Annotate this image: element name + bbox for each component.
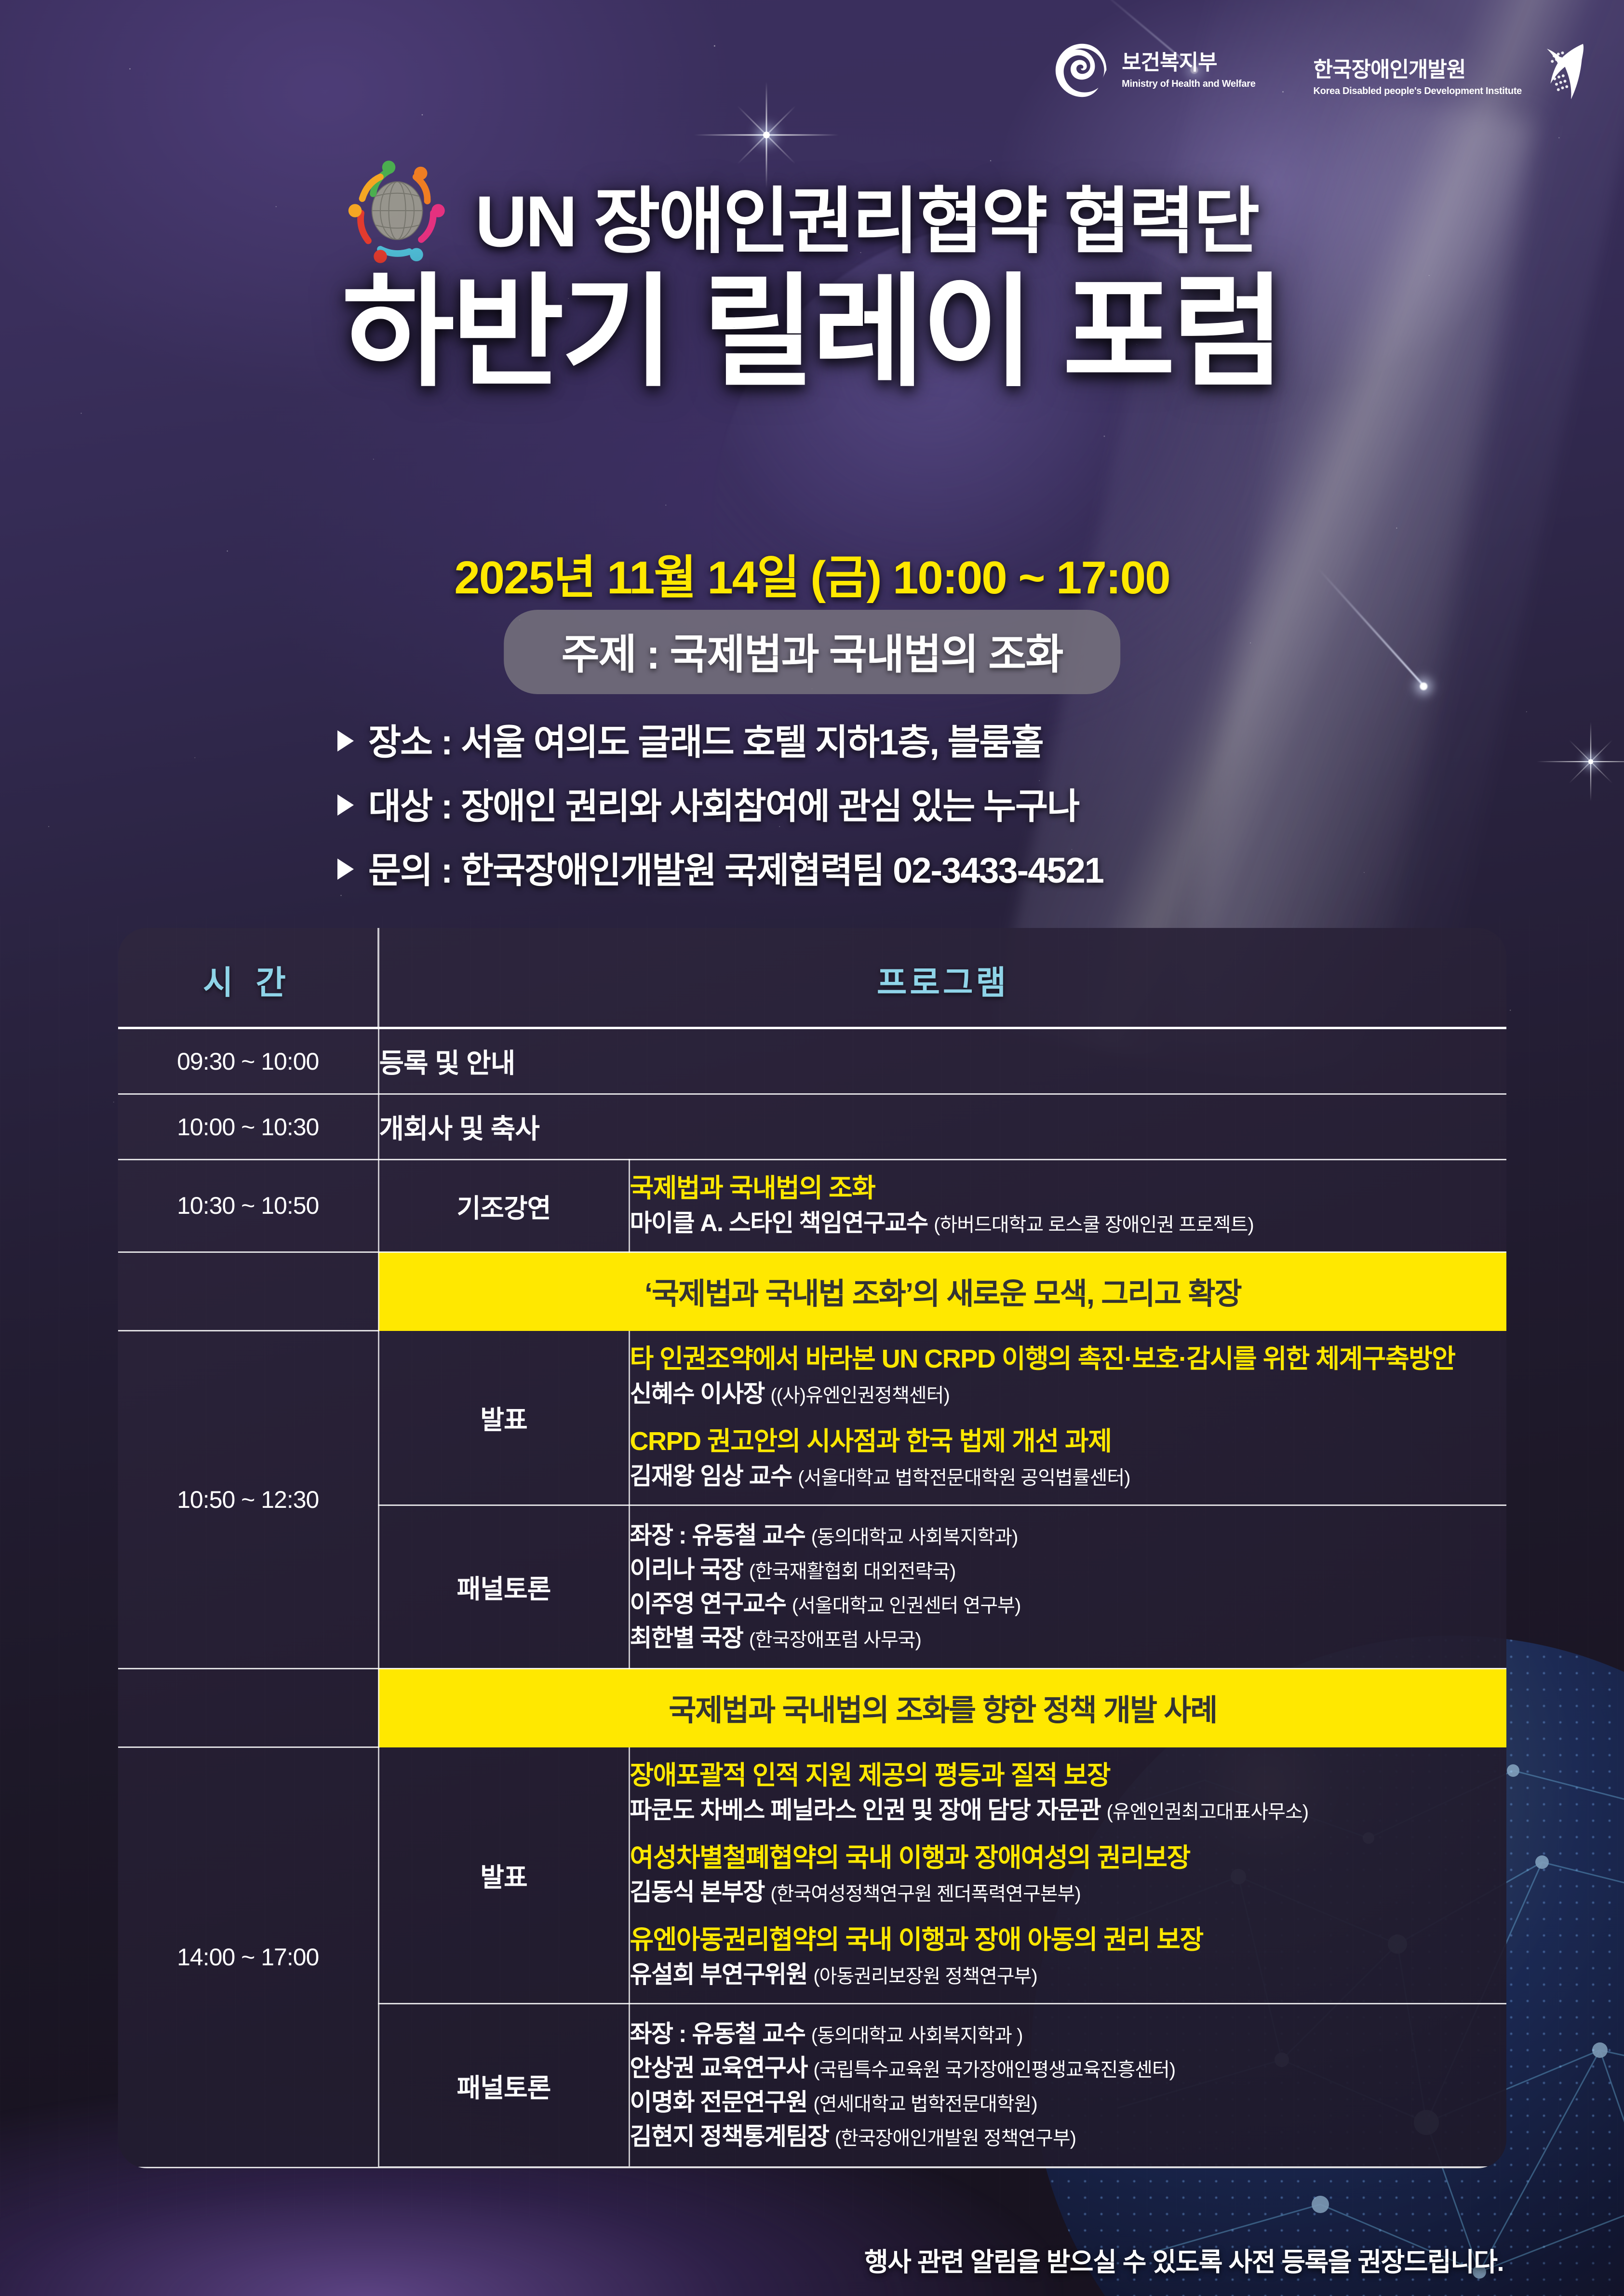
kodaf-bird-icon (1532, 41, 1595, 114)
person-name: 신혜수 이사장 (630, 1380, 765, 1407)
person-affiliation: (한국장애포럼 사무국) (749, 1629, 921, 1651)
sparkle-star-icon-2 (1547, 718, 1624, 805)
korea-gov-taegeuk-icon (1053, 41, 1111, 99)
schedule-table: 시 간 프로그램 09:30 ~ 10:00 등록 및 안내 10:00 ~ 1… (118, 928, 1506, 2168)
person-affiliation: (아동권리보장원 정책연구부) (813, 1966, 1037, 1987)
event-info-list: 장소 : 서울 여의도 글래드 호텔 지하1층, 블룸홀 대상 : 장애인 권리… (337, 713, 1103, 906)
program-item-title: 타 인권조약에서 바라본 UN CRPD 이행의 촉진·보호·감시를 위한 체계… (630, 1343, 1507, 1375)
person-name: 유설희 부연구위원 (630, 1961, 807, 1988)
program-item: 국제법과 국내법의 조화 마이클 A. 스타인 책임연구교수 (하버드대학교 로… (630, 1173, 1507, 1239)
person-name: 이리나 국장 (630, 1556, 743, 1583)
person-name: 김동식 본부장 (630, 1879, 765, 1906)
table-row: 10:00 ~ 10:30 개회사 및 축사 (118, 1094, 1506, 1160)
schedule-panel: 시 간 프로그램 09:30 ~ 10:00 등록 및 안내 10:00 ~ 1… (118, 928, 1506, 2168)
cell-session-kind: 패널토론 (378, 1505, 629, 1668)
panelist-line: 이주영 연구교수 (서울대학교 인권센터 연구부) (630, 1587, 1507, 1621)
person-name: 김재왕 임상 교수 (630, 1463, 792, 1490)
person-affiliation: (국립특수교육원 국가장애인평생교육진흥센터) (813, 2059, 1175, 2081)
registration-note: 행사 관련 알림을 받으실 수 있도록 사전 등록을 권장드립니다. (864, 2241, 1503, 2279)
section-header-row: 국제법과 국내법의 조화를 향한 정책 개발 사례 (118, 1668, 1506, 1747)
cell-blank (118, 1668, 378, 1747)
triangle-right-icon (337, 794, 354, 816)
logo-label-en: Korea Disabled people's Development Inst… (1314, 86, 1522, 97)
column-header-time: 시 간 (118, 928, 378, 1028)
section-header-label: ‘국제법과 국내법 조화’의 새로운 모색, 그리고 확장 (378, 1252, 1506, 1331)
column-header-program: 프로그램 (378, 928, 1506, 1028)
info-item-text: 대상 : 장애인 권리와 사회참여에 관심 있는 누구나 (368, 778, 1079, 829)
program-item-title: 장애포괄적 인적 지원 제공의 평등과 질적 보장 (630, 1760, 1507, 1792)
person-affiliation: (서울대학교 법학전문대학원 공익법률센터) (798, 1467, 1130, 1489)
panelist-line: 좌장 : 유동철 교수 (동의대학교 사회복지학과) (630, 1518, 1507, 1553)
cell-session-kind: 패널토론 (378, 2004, 629, 2168)
cell-session-kind: 발표 (378, 1331, 629, 1505)
program-item-person: 김동식 본부장 (한국여성정책연구원 젠더폭력연구본부) (630, 1877, 1507, 1908)
person-name: 마이클 A. 스타인 책임연구교수 (630, 1209, 928, 1236)
table-row: 09:30 ~ 10:00 등록 및 안내 (118, 1028, 1506, 1094)
person-affiliation: (동의대학교 사회복지학과 ) (811, 2025, 1023, 2046)
logo-korea-disabled-peoples-development-institute: 한국장애인개발원 Korea Disabled people's Develop… (1314, 41, 1595, 114)
program-item-title: 국제법과 국내법의 조화 (630, 1173, 1507, 1205)
panelist-line: 안상권 교육연구사 (국립특수교육원 국가장애인평생교육진흥센터) (630, 2051, 1507, 2085)
cell-session-kind: 발표 (378, 1747, 629, 2004)
cell-time: 10:50 ~ 12:30 (118, 1331, 378, 1668)
cell-blank (118, 1252, 378, 1331)
table-row: 10:50 ~ 12:30 발표 타 인권조약에서 바라본 UN CRPD 이행… (118, 1331, 1506, 1505)
program-item-title: CRPD 권고안의 시사점과 한국 법제 개선 과제 (630, 1426, 1507, 1458)
program-item-person: 마이클 A. 스타인 책임연구교수 (하버드대학교 로스쿨 장애인권 프로젝트) (630, 1208, 1507, 1239)
triangle-right-icon (337, 859, 354, 880)
info-item-text: 문의 : 한국장애인개발원 국제협력팀 02-3433-4521 (368, 842, 1103, 893)
info-item-venue: 장소 : 서울 여의도 글래드 호텔 지하1층, 블룸홀 (337, 713, 1103, 765)
triangle-right-icon (337, 730, 354, 752)
program-item: 장애포괄적 인적 지원 제공의 평등과 질적 보장 파쿤도 차베스 페닐라스 인… (630, 1760, 1507, 1826)
section-header-label: 국제법과 국내법의 조화를 향한 정책 개발 사례 (378, 1668, 1506, 1747)
hero-title-line-2: 하반기 릴레이 포럼 (0, 268, 1624, 397)
person-affiliation: (한국재활협회 대외전략국) (749, 1561, 956, 1582)
person-name: 이명화 전문연구원 (630, 2089, 807, 2116)
cell-program: 개회사 및 축사 (378, 1094, 1506, 1160)
event-poster: 보건복지부 Ministry of Health and Welfare 한국장… (0, 0, 1624, 2296)
person-affiliation: (한국여성정책연구원 젠더폭력연구본부) (770, 1883, 1080, 1905)
logo-label-ko: 보건복지부 (1122, 51, 1255, 74)
person-affiliation: (동의대학교 사회복지학과) (811, 1527, 1018, 1548)
program-item: 타 인권조약에서 바라본 UN CRPD 이행의 촉진·보호·감시를 위한 체계… (630, 1343, 1507, 1410)
person-name: 최한별 국장 (630, 1625, 743, 1652)
globe-people-circle-icon (337, 150, 457, 271)
program-item: CRPD 권고안의 시사점과 한국 법제 개선 과제 김재왕 임상 교수 (서울… (630, 1426, 1507, 1492)
person-name: 파쿤도 차베스 페닐라스 인권 및 장애 담당 자문관 (630, 1797, 1101, 1824)
info-item-contact: 문의 : 한국장애인개발원 국제협력팀 02-3433-4521 (337, 842, 1103, 893)
sponsor-logos: 보건복지부 Ministry of Health and Welfare 한국장… (1053, 41, 1595, 114)
cell-program: 장애포괄적 인적 지원 제공의 평등과 질적 보장 파쿤도 차베스 페닐라스 인… (629, 1747, 1506, 2004)
program-item-title: 여성차별철폐협약의 국내 이행과 장애여성의 권리보장 (630, 1842, 1507, 1874)
person-name: 좌장 : 유동철 교수 (630, 1522, 805, 1549)
program-item: 유엔아동권리협약의 국내 이행과 장애 아동의 권리 보장 유설희 부연구위원 … (630, 1924, 1507, 1990)
person-affiliation: (서울대학교 인권센터 연구부) (792, 1595, 1020, 1616)
cell-time: 10:00 ~ 10:30 (118, 1094, 378, 1160)
program-item: 여성차별철폐협약의 국내 이행과 장애여성의 권리보장 김동식 본부장 (한국여… (630, 1842, 1507, 1908)
person-name: 좌장 : 유동철 교수 (630, 2020, 805, 2047)
section-header-row: ‘국제법과 국내법 조화’의 새로운 모색, 그리고 확장 (118, 1252, 1506, 1331)
logo-label-ko: 한국장애인개발원 (1314, 58, 1522, 81)
program-item-person: 신혜수 이사장 ((사)유엔인권정책센터) (630, 1378, 1507, 1410)
person-name: 안상권 교육연구사 (630, 2054, 807, 2081)
person-affiliation: (하버드대학교 로스쿨 장애인권 프로젝트) (934, 1214, 1254, 1235)
table-row: 14:00 ~ 17:00 발표 장애포괄적 인적 지원 제공의 평등과 질적 … (118, 1747, 1506, 2004)
cell-time: 14:00 ~ 17:00 (118, 1747, 378, 2168)
cell-time: 09:30 ~ 10:00 (118, 1028, 378, 1094)
info-item-audience: 대상 : 장애인 권리와 사회참여에 관심 있는 누구나 (337, 778, 1103, 829)
hero-title-block: UN 장애인권리협약 협력단 하반기 릴레이 포럼 (0, 159, 1624, 397)
program-item-title: 유엔아동권리협약의 국내 이행과 장애 아동의 권리 보장 (630, 1924, 1507, 1956)
panelist-line: 좌장 : 유동철 교수 (동의대학교 사회복지학과 ) (630, 2017, 1507, 2051)
cell-time: 10:30 ~ 10:50 (118, 1160, 378, 1252)
cell-program: 국제법과 국내법의 조화 마이클 A. 스타인 책임연구교수 (하버드대학교 로… (629, 1160, 1506, 1252)
panelist-line: 이리나 국장 (한국재활협회 대외전략국) (630, 1553, 1507, 1587)
cell-session-kind: 기조강연 (378, 1160, 629, 1252)
program-item-person: 유설희 부연구위원 (아동권리보장원 정책연구부) (630, 1959, 1507, 1990)
person-name: 김현지 정책통계팀장 (630, 2123, 829, 2150)
logo-ministry-of-health-and-welfare: 보건복지부 Ministry of Health and Welfare (1053, 41, 1255, 99)
event-theme-badge: 주제 : 국제법과 국내법의 조화 (504, 610, 1121, 694)
person-name: 이주영 연구교수 (630, 1590, 786, 1617)
table-row: 10:30 ~ 10:50 기조강연 국제법과 국내법의 조화 마이클 A. 스… (118, 1160, 1506, 1252)
panelist-line: 이명화 전문연구원 (연세대학교 법학전문대학원) (630, 2085, 1507, 2120)
panelist-line: 최한별 국장 (한국장애포럼 사무국) (630, 1621, 1507, 1655)
table-header-row: 시 간 프로그램 (118, 928, 1506, 1028)
info-item-text: 장소 : 서울 여의도 글래드 호텔 지하1층, 블룸홀 (368, 713, 1043, 765)
cell-program: 좌장 : 유동철 교수 (동의대학교 사회복지학과 ) 안상권 교육연구사 (국… (629, 2004, 1506, 2168)
logo-label-en: Ministry of Health and Welfare (1122, 79, 1255, 90)
cell-program: 타 인권조약에서 바라본 UN CRPD 이행의 촉진·보호·감시를 위한 체계… (629, 1331, 1506, 1505)
hero-title-line-1: UN 장애인권리협약 협력단 (475, 163, 1258, 268)
program-item-person: 파쿤도 차베스 페닐라스 인권 및 장애 담당 자문관 (유엔인권최고대표사무소… (630, 1795, 1507, 1826)
person-affiliation: (연세대학교 법학전문대학원) (813, 2094, 1037, 2115)
person-affiliation: (한국장애인개발원 정책연구부) (835, 2128, 1076, 2149)
person-affiliation: ((사)유엔인권정책센터) (770, 1385, 949, 1406)
event-date-time: 2025년 11월 14일 (금) 10:00 ~ 17:00 (0, 540, 1624, 607)
cell-program: 좌장 : 유동철 교수 (동의대학교 사회복지학과) 이리나 국장 (한국재활협… (629, 1505, 1506, 1668)
panelist-line: 김현지 정책통계팀장 (한국장애인개발원 정책연구부) (630, 2120, 1507, 2154)
program-item-person: 김재왕 임상 교수 (서울대학교 법학전문대학원 공익법률센터) (630, 1461, 1507, 1492)
person-affiliation: (유엔인권최고대표사무소) (1107, 1801, 1308, 1823)
cell-program: 등록 및 안내 (378, 1028, 1506, 1094)
